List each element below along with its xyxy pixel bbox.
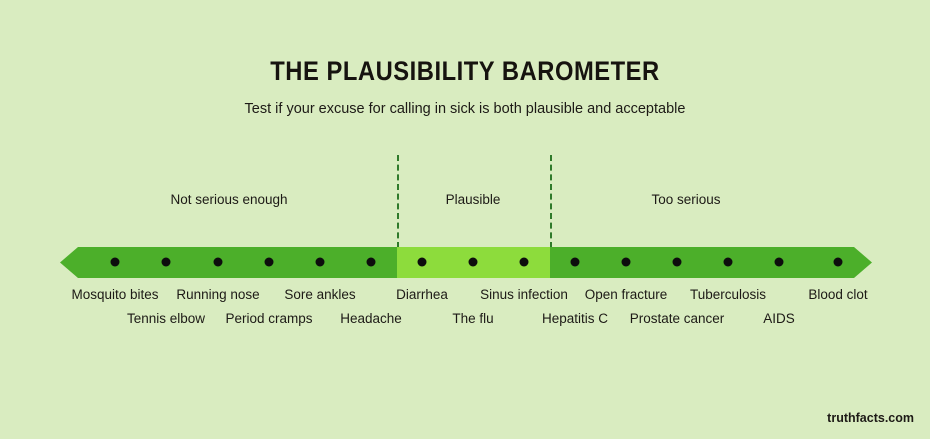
watermark: truthfacts.com [827,411,914,425]
item-label: Headache [340,311,402,326]
item-label: Tuberculosis [690,287,766,302]
item-dot [724,258,733,267]
zone-label: Not serious enough [170,192,287,207]
item-label: Sore ankles [284,287,355,302]
infographic-canvas: THE PLAUSIBILITY BAROMETER Test if your … [0,0,930,439]
page-subtitle: Test if your excuse for calling in sick … [0,101,930,117]
zone-label: Too serious [651,192,720,207]
item-dot [418,258,427,267]
item-label: Diarrhea [396,287,448,302]
item-label: Running nose [176,287,259,302]
item-dot [775,258,784,267]
barometer-bar-shape [60,247,872,278]
item-label: Blood clot [808,287,867,302]
item-label: The flu [452,311,493,326]
item-dot [265,258,274,267]
item-dot [622,258,631,267]
item-label: Prostate cancer [630,311,725,326]
item-dot [571,258,580,267]
item-label: Hepatitis C [542,311,608,326]
page-title: THE PLAUSIBILITY BAROMETER [56,56,874,87]
item-dot [111,258,120,267]
item-label: AIDS [763,311,795,326]
item-dot [469,258,478,267]
item-dot [162,258,171,267]
item-label: Tennis elbow [127,311,205,326]
item-label: Sinus infection [480,287,568,302]
barometer-bar [60,247,872,278]
barometer-zone-segment [550,247,872,278]
item-dot [214,258,223,267]
item-dot [316,258,325,267]
item-dot [367,258,376,267]
zone-label: Plausible [446,192,501,207]
item-dot [834,258,843,267]
item-dot [520,258,529,267]
item-dot [673,258,682,267]
item-label: Period cramps [225,311,312,326]
item-label: Open fracture [585,287,668,302]
item-label: Mosquito bites [71,287,158,302]
